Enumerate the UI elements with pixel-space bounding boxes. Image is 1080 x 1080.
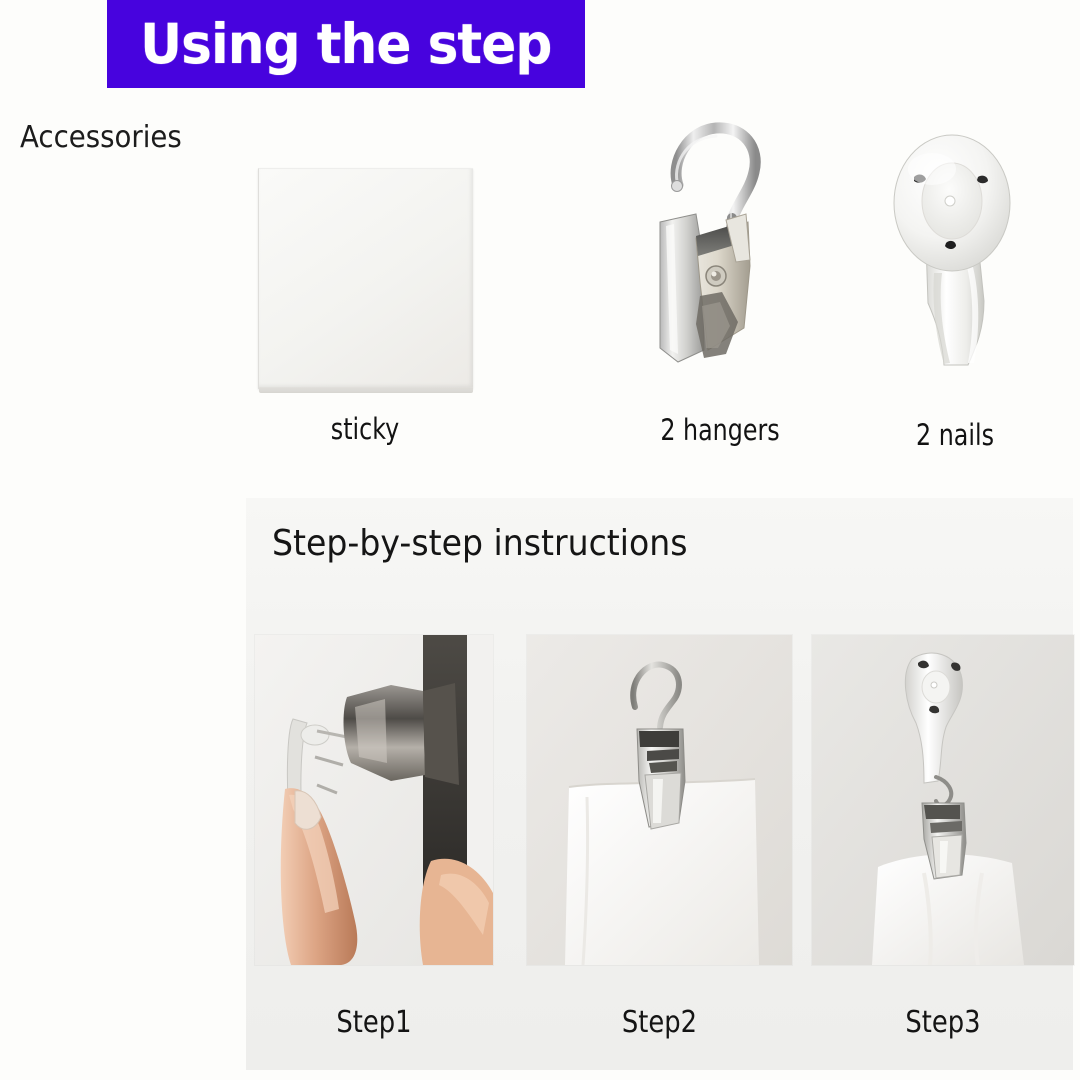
step-caption-1: Step1 xyxy=(272,1005,477,1040)
step-caption-3: Step3 xyxy=(830,1005,1055,1040)
accessory-caption-nails: 2 nails xyxy=(894,418,1017,452)
page-root: Using the step Accessories sticky xyxy=(0,0,1080,1080)
title-banner: Using the step xyxy=(107,0,585,88)
step-photo-1 xyxy=(255,635,493,965)
accessories-section-label: Accessories xyxy=(20,120,182,155)
step-photo-3 xyxy=(812,635,1074,965)
hanger-clip-icon xyxy=(630,110,810,390)
step-photo-2 xyxy=(527,635,792,965)
accessory-caption-sticky: sticky xyxy=(277,412,452,446)
wall-hook-nail-icon xyxy=(880,133,1030,388)
accessory-caption-hangers: 2 hangers xyxy=(638,413,802,447)
instructions-title: Step-by-step instructions xyxy=(272,523,687,564)
adhesive-pad-icon xyxy=(258,168,473,389)
step-caption-2: Step2 xyxy=(546,1005,774,1040)
page-title: Using the step xyxy=(140,17,551,72)
